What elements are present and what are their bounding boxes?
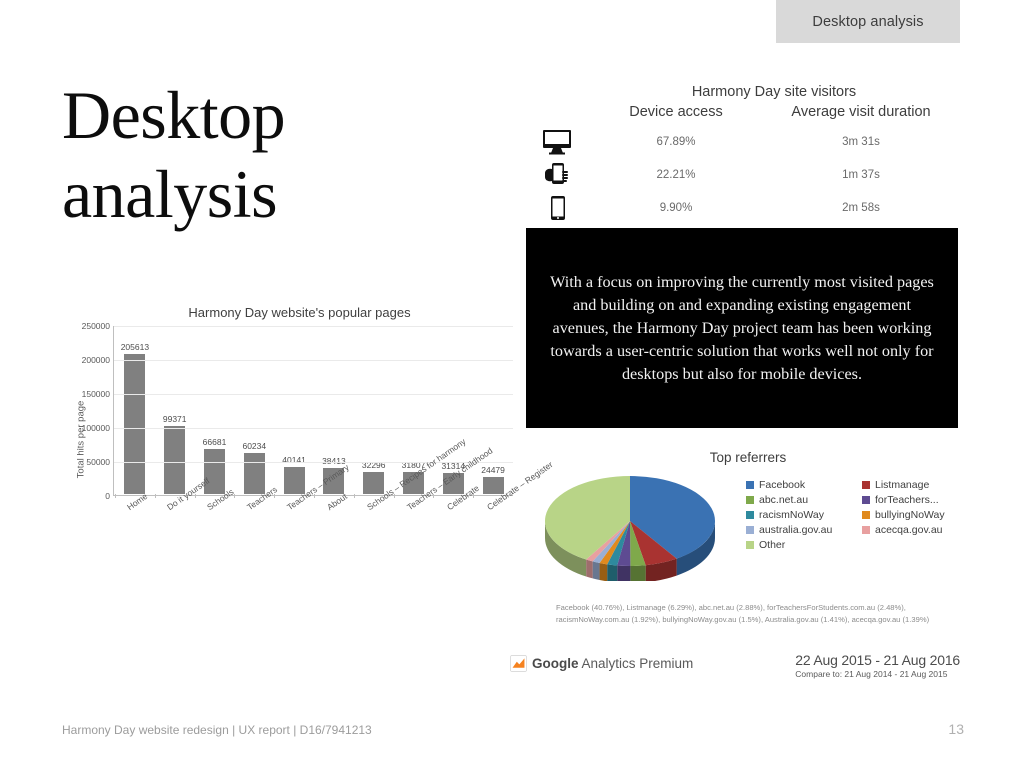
bar-chart-value-label: 40141 (282, 455, 306, 465)
pie-legend-swatch (862, 496, 870, 504)
bar-chart-value-label: 99371 (163, 414, 187, 424)
pie-legend-swatch (862, 481, 870, 489)
bar-chart-value-label: 66681 (203, 437, 227, 447)
pie-slice-side (586, 560, 593, 579)
pie-legend-label: australia.gov.au (759, 524, 832, 536)
device-access-value: 67.89% (586, 125, 766, 158)
bar-chart-bar (363, 472, 384, 494)
bar-chart-x-labels: HomeDo it yourselfSchoolsTeachersTeacher… (113, 498, 513, 593)
bar-chart-value-label: 60234 (242, 441, 266, 451)
metrics-col-avg-duration: Average visit duration (766, 104, 956, 125)
popular-pages-bar-chart: Harmony Day website's popular pages Tota… (62, 305, 517, 615)
ga-date-range-compare: Compare to: 21 Aug 2014 - 21 Aug 2015 (795, 669, 960, 679)
bar-chart-bar (284, 467, 305, 494)
pie-legend-item: Other (746, 539, 962, 551)
metrics-title: Harmony Day site visitors (580, 84, 968, 100)
desktop-monitor-icon (528, 125, 586, 158)
bar-chart-bar (164, 426, 185, 494)
pie-legend-swatch (746, 541, 754, 549)
desktop-monitor-icon-svg (542, 129, 572, 155)
page-title-line-1: Desktop (62, 76, 482, 155)
pie-legend-swatch (746, 481, 754, 489)
tablet-icon-svg (542, 195, 572, 221)
bar-chart-gridline (114, 394, 513, 395)
bar-chart-y-tick: 200000 (66, 355, 110, 365)
ga-brand-bold: Google (532, 656, 579, 671)
google-analytics-footer: Google Analytics Premium 22 Aug 2015 - 2… (510, 652, 965, 684)
pie-legend-item: acecqa.gov.au (862, 524, 962, 536)
top-referrers-pie-chart: Top referrers FacebookListmanageabc.net.… (528, 450, 968, 650)
page-title: Desktop analysis (62, 76, 482, 234)
device-access-value: 9.90% (586, 191, 766, 224)
pie-chart-legend: FacebookListmanageabc.net.auforTeachers.… (746, 479, 962, 551)
pie-legend-label: racismNoWay (759, 509, 824, 521)
pie-slice-side (600, 563, 608, 581)
metrics-title-text: Harmony Day site visitors (692, 84, 856, 100)
page-number: 13 (948, 721, 964, 737)
bar-chart-bar (124, 354, 145, 494)
avg-duration-value: 1m 37s (766, 158, 956, 191)
pie-legend-label: Listmanage (875, 479, 929, 491)
pie-legend-item: Facebook (746, 479, 854, 491)
pie-legend-label: Facebook (759, 479, 805, 491)
bar-chart-bar-column: 66681 (195, 326, 235, 494)
google-analytics-mark-icon (510, 655, 527, 672)
bar-chart-y-tick: 0 (66, 491, 110, 501)
bar-chart-y-ticks: 250000200000150000100000500000 (62, 326, 110, 496)
pie-chart-caption: Facebook (40.76%), Listmanage (6.29%), a… (556, 602, 956, 626)
tablet-icon (528, 191, 586, 224)
pie-chart-title: Top referrers (528, 450, 968, 465)
pie-chart-svg (534, 469, 734, 581)
pie-chart-graphic (534, 469, 734, 581)
pie-legend-item: australia.gov.au (746, 524, 854, 536)
header-section-label: Desktop analysis (812, 14, 923, 30)
pie-legend-item: abc.net.au (746, 494, 854, 506)
pie-slice-side (630, 565, 645, 581)
bar-chart-bar-column: 205613 (115, 326, 155, 494)
bar-chart-gridline (114, 326, 513, 327)
device-metrics-table: Harmony Day site visitors Device access … (528, 84, 968, 224)
pie-legend-swatch (746, 496, 754, 504)
avg-duration-value: 3m 31s (766, 125, 956, 158)
avg-duration-value: 2m 58s (766, 191, 956, 224)
pie-legend-item: racismNoWay (746, 509, 854, 521)
device-access-value: 22.21% (586, 158, 766, 191)
bar-chart-value-label: 205613 (121, 342, 149, 352)
bar-chart-bar (483, 477, 504, 494)
google-analytics-brand: Google Analytics Premium (532, 656, 693, 671)
pie-legend-swatch (862, 526, 870, 534)
metrics-col-device-access: Device access (586, 104, 766, 125)
pie-legend-swatch (746, 526, 754, 534)
bar-chart-y-tick: 50000 (66, 457, 110, 467)
bar-chart-gridline (114, 462, 513, 463)
bar-chart-bar-column: 32296 (354, 326, 394, 494)
pie-slice-side (617, 565, 630, 581)
pie-slice-side (607, 564, 617, 581)
bar-chart-bar (204, 449, 225, 494)
pie-legend-label: bullyingNoWay (875, 509, 945, 521)
pie-slice-side (593, 561, 600, 580)
bar-chart-bar-column: 60234 (234, 326, 274, 494)
pie-legend-item: Listmanage (862, 479, 962, 491)
header-section-tab: Desktop analysis (776, 0, 960, 43)
slide: Desktop analysis Desktop analysis Harmon… (0, 0, 1024, 765)
bar-chart-bar-column: 24479 (473, 326, 513, 494)
bar-chart-gridline (114, 428, 513, 429)
pie-legend-item: forTeachers... (862, 494, 962, 506)
pie-legend-label: Other (759, 539, 785, 551)
pie-legend-label: acecqa.gov.au (875, 524, 943, 536)
bar-chart-bar-column: 99371 (155, 326, 195, 494)
pie-legend-item: bullyingNoWay (862, 509, 962, 521)
page-title-line-2: analysis (62, 155, 482, 234)
bar-chart-y-tick: 150000 (66, 389, 110, 399)
summary-callout-text: With a focus on improving the currently … (548, 271, 936, 386)
bar-chart-y-tick: 250000 (66, 321, 110, 331)
google-analytics-date-range: 22 Aug 2015 - 21 Aug 2016 Compare to: 21… (795, 652, 960, 679)
bar-chart-bar (244, 453, 265, 494)
google-analytics-logo: Google Analytics Premium (510, 655, 693, 672)
pie-legend-label: forTeachers... (875, 494, 939, 506)
bar-chart-bar-column: 40141 (274, 326, 314, 494)
footer-text: Harmony Day website redesign | UX report… (62, 723, 372, 737)
pie-legend-swatch (862, 511, 870, 519)
hand-holding-phone-icon-svg (542, 162, 572, 188)
pie-legend-label: abc.net.au (759, 494, 808, 506)
ga-brand-rest: Analytics Premium (579, 656, 694, 671)
bar-chart-title: Harmony Day website's popular pages (62, 305, 517, 320)
hand-holding-phone-icon (528, 158, 586, 191)
summary-callout-box: With a focus on improving the currently … (526, 228, 958, 428)
bar-chart-gridline (114, 360, 513, 361)
bar-chart-value-label: 24479 (481, 465, 505, 475)
bar-chart-y-tick: 100000 (66, 423, 110, 433)
pie-legend-swatch (746, 511, 754, 519)
ga-date-range-main: 22 Aug 2015 - 21 Aug 2016 (795, 652, 960, 668)
